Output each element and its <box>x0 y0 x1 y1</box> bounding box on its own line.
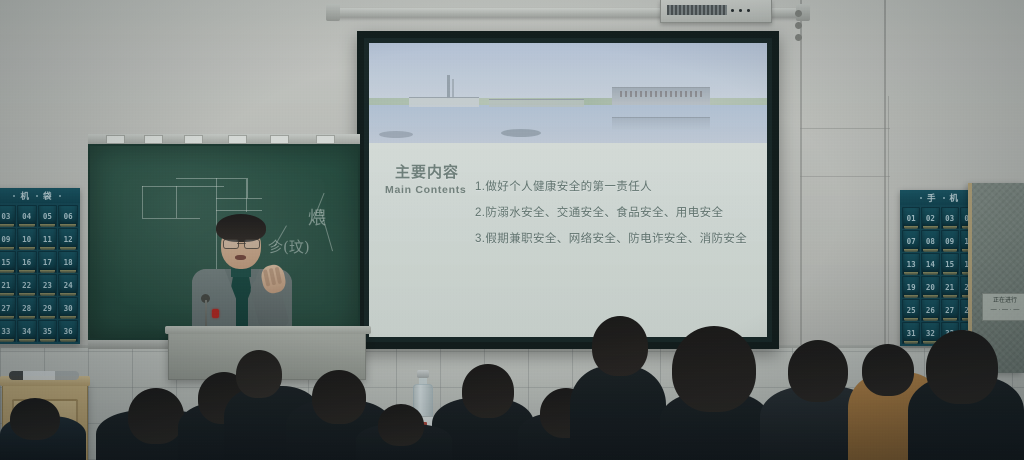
pocket-slot[interactable]: 36 <box>58 320 78 342</box>
pocket-slot[interactable]: 16 <box>17 251 37 273</box>
pocket-slot[interactable]: 23 <box>38 274 58 296</box>
pocket-slot[interactable]: 25 <box>902 299 920 321</box>
pocket-header-char: 机 <box>950 192 961 204</box>
bottle-cap <box>417 370 429 378</box>
projector-indicator-icon <box>731 9 734 12</box>
pocket-slot[interactable]: 15 <box>0 251 16 273</box>
student-body <box>570 366 666 460</box>
student-head <box>128 388 184 444</box>
blackboard-clip <box>270 135 289 144</box>
notice-board-label: 正在进行 — · — · — <box>982 293 1024 321</box>
pocket-header-left: 机 袋 <box>0 188 80 203</box>
student-head <box>862 344 914 396</box>
pocket-slot[interactable]: 31 <box>902 322 920 344</box>
blackboard-clip <box>106 135 125 144</box>
pocket-slot[interactable]: 09 <box>941 230 959 252</box>
pocket-slot[interactable]: 24 <box>58 274 78 296</box>
blackboard-clip <box>184 135 203 144</box>
slide-title-english: Main Contents <box>385 184 466 196</box>
pocket-slot[interactable]: 14 <box>921 253 939 275</box>
pocket-slot[interactable]: 22 <box>17 274 37 296</box>
glasses-icon <box>223 239 260 247</box>
pocket-slot[interactable]: 21 <box>941 276 959 298</box>
pocket-grid-left: 03 04 05 06 09 10 11 12 15 16 17 18 21 2… <box>0 203 80 344</box>
slide-title-chinese: 主要内容 <box>395 161 459 182</box>
pocket-slot[interactable]: 34 <box>17 320 37 342</box>
pocket-slot[interactable]: 04 <box>17 205 37 227</box>
projector-unit <box>660 0 772 23</box>
pocket-slot[interactable]: 26 <box>921 299 939 321</box>
lapel-badge-icon <box>212 309 219 318</box>
pocket-header-char: 袋 <box>43 190 54 202</box>
wall-panel-line <box>800 176 890 177</box>
pocket-slot[interactable]: 20 <box>921 276 939 298</box>
projection-screen: 主要内容 Main Contents 1.做好个人健康安全的第一责任人 2.防溺… <box>369 43 767 337</box>
projector-indicator-icon <box>739 9 742 12</box>
pocket-slot[interactable]: 17 <box>38 251 58 273</box>
projector-vent-icon <box>667 5 727 15</box>
pocket-slot[interactable]: 35 <box>38 320 58 342</box>
pocket-slot[interactable]: 02 <box>921 207 939 229</box>
pocket-slot[interactable]: 21 <box>0 274 16 296</box>
slide-bullet-item: 1.做好个人健康安全的第一责任人 <box>475 178 757 194</box>
student-head <box>788 340 848 402</box>
pocket-slot[interactable]: 05 <box>38 205 58 227</box>
student-head <box>672 326 756 412</box>
pocket-slot[interactable]: 13 <box>902 253 920 275</box>
blackboard-clip <box>316 135 335 144</box>
pocket-slot[interactable]: 07 <box>902 230 920 252</box>
wall-panel-line <box>800 128 890 129</box>
pocket-slot[interactable]: 11 <box>38 228 58 250</box>
student-head <box>236 350 282 398</box>
pocket-slot[interactable]: 30 <box>58 297 78 319</box>
slide-bullet-list: 1.做好个人健康安全的第一责任人 2.防溺水安全、交通安全、食品安全、用电安全 … <box>475 178 757 246</box>
pocket-slot[interactable]: 27 <box>0 297 16 319</box>
pocket-header-char: 手 <box>927 192 938 204</box>
desk-items <box>9 371 79 380</box>
blackboard-clip <box>144 135 163 144</box>
pocket-slot[interactable]: 33 <box>0 320 16 342</box>
lectern-top-surface <box>165 326 371 334</box>
screen-mount-arm <box>780 6 802 46</box>
student-head <box>926 330 998 404</box>
pocket-slot[interactable]: 29 <box>38 297 58 319</box>
pocket-slot[interactable]: 28 <box>17 297 37 319</box>
notice-label-line2: — · — · — <box>985 306 1024 315</box>
phone-pocket-organizer-left: 机 袋 03 04 05 06 09 10 11 12 15 16 17 18 … <box>0 188 80 344</box>
pocket-slot[interactable]: 01 <box>902 207 920 229</box>
pocket-header-char: 机 <box>20 190 31 202</box>
pocket-slot[interactable]: 03 <box>941 207 959 229</box>
slide-header-photo <box>369 43 767 143</box>
student-head <box>462 364 514 418</box>
pocket-slot[interactable]: 06 <box>58 205 78 227</box>
pocket-slot[interactable]: 10 <box>17 228 37 250</box>
pocket-slot[interactable]: 08 <box>921 230 939 252</box>
student-head <box>378 404 424 446</box>
speaker-mouth <box>235 255 246 260</box>
blackboard-clip <box>228 135 247 144</box>
pocket-slot[interactable]: 03 <box>0 205 16 227</box>
projector-indicator-icon <box>747 9 750 12</box>
student-head <box>312 370 366 424</box>
chalk-character: 煨 <box>308 204 326 230</box>
slide-body: 主要内容 Main Contents 1.做好个人健康安全的第一责任人 2.防溺… <box>369 143 767 337</box>
wall-panel-line <box>888 96 889 352</box>
student-head <box>592 316 648 376</box>
pocket-slot[interactable]: 19 <box>902 276 920 298</box>
pocket-slot[interactable]: 15 <box>941 253 959 275</box>
pocket-slot[interactable]: 27 <box>941 299 959 321</box>
ceiling-bar-cap <box>326 4 340 21</box>
pocket-slot[interactable]: 12 <box>58 228 78 250</box>
speaker-hair <box>216 214 266 242</box>
slide-bullet-item: 3.假期兼职安全、网络安全、防电诈安全、消防安全 <box>475 230 757 246</box>
student-head <box>10 398 60 440</box>
classroom-scene: 主要内容 Main Contents 1.做好个人健康安全的第一责任人 2.防溺… <box>0 0 1024 460</box>
pocket-slot[interactable]: 09 <box>0 228 16 250</box>
pocket-slot[interactable]: 18 <box>58 251 78 273</box>
slide-bullet-item: 2.防溺水安全、交通安全、食品安全、用电安全 <box>475 204 757 220</box>
notice-label-line1: 正在进行 <box>985 297 1024 306</box>
